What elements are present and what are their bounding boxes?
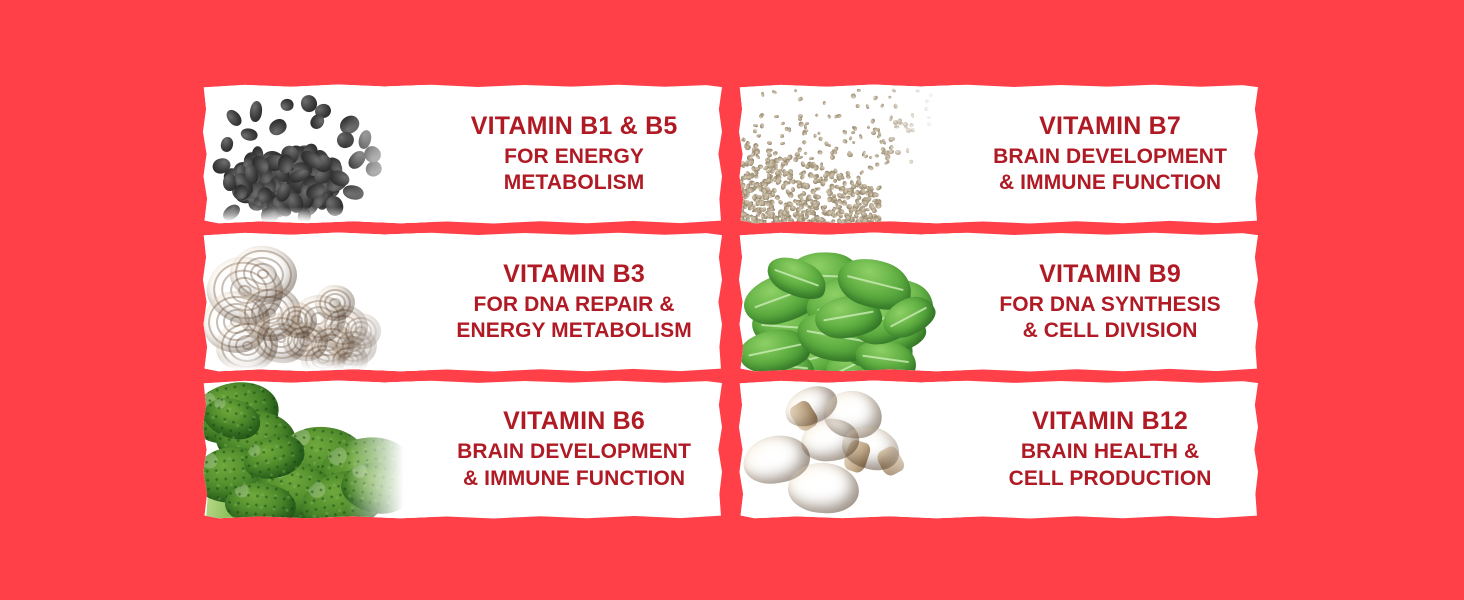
- vitamin-title: VITAMIN B6: [503, 407, 645, 435]
- vitamin-title: VITAMIN B9: [1039, 260, 1181, 288]
- vitamin-card-b7[interactable]: VITAMIN B7 BRAIN DEVELOPMENT & IMMUNE FU…: [739, 84, 1258, 224]
- chia-seeds-photo: [739, 84, 962, 224]
- vitamin-card-text: VITAMIN B9 FOR DNA SYNTHESIS & CELL DIVI…: [962, 232, 1258, 372]
- vitamin-title: VITAMIN B7: [1039, 112, 1181, 140]
- vitamin-card-text: VITAMIN B7 BRAIN DEVELOPMENT & IMMUNE FU…: [962, 84, 1258, 224]
- sunflower-seeds-photo: [203, 84, 426, 224]
- vitamin-subtitle-line-1: FOR ENERGY: [504, 144, 644, 170]
- vitamin-title: VITAMIN B12: [1032, 407, 1188, 435]
- shiitake-mushrooms-photo: [739, 380, 962, 519]
- spinach-leaves-photo: [739, 232, 962, 372]
- vitamin-card-text: VITAMIN B3 FOR DNA REPAIR & ENERGY METAB…: [426, 232, 722, 372]
- vitamin-card-b12[interactable]: VITAMIN B12 BRAIN HEALTH & CELL PRODUCTI…: [739, 380, 1258, 519]
- broccoli-photo: [203, 380, 426, 519]
- vitamin-subtitle-line-2: & IMMUNE FUNCTION: [463, 466, 685, 492]
- vitamin-card-text: VITAMIN B6 BRAIN DEVELOPMENT & IMMUNE FU…: [426, 380, 722, 519]
- vitamin-card-b6[interactable]: VITAMIN B6 BRAIN DEVELOPMENT & IMMUNE FU…: [203, 380, 722, 519]
- vitamin-subtitle-line-1: FOR DNA REPAIR &: [474, 292, 675, 318]
- vitamin-subtitle-line-2: ENERGY METABOLISM: [456, 318, 691, 344]
- vitamin-card-b9[interactable]: VITAMIN B9 FOR DNA SYNTHESIS & CELL DIVI…: [739, 232, 1258, 372]
- vitamin-subtitle-line-1: BRAIN HEALTH &: [1021, 439, 1199, 465]
- vitamin-subtitle-line-1: BRAIN DEVELOPMENT: [457, 439, 691, 465]
- maitake-mushrooms-photo: [203, 232, 426, 372]
- vitamin-card-text: VITAMIN B12 BRAIN HEALTH & CELL PRODUCTI…: [962, 380, 1258, 519]
- vitamin-subtitle-line-2: & IMMUNE FUNCTION: [999, 170, 1221, 196]
- vitamin-subtitle-line-2: & CELL DIVISION: [1023, 318, 1198, 344]
- vitamin-card-grid: VITAMIN B1 & B5 FOR ENERGY METABOLISM VI…: [203, 84, 1258, 520]
- vitamin-title: VITAMIN B3: [503, 260, 645, 288]
- vitamin-subtitle-line-2: METABOLISM: [504, 170, 645, 196]
- vitamin-subtitle-line-2: CELL PRODUCTION: [1009, 466, 1212, 492]
- infographic-board: VITAMIN B1 & B5 FOR ENERGY METABOLISM VI…: [0, 0, 1464, 600]
- vitamin-subtitle-line-1: BRAIN DEVELOPMENT: [993, 144, 1227, 170]
- vitamin-card-b1-b5[interactable]: VITAMIN B1 & B5 FOR ENERGY METABOLISM: [203, 84, 722, 224]
- vitamin-subtitle-line-1: FOR DNA SYNTHESIS: [999, 292, 1220, 318]
- vitamin-card-text: VITAMIN B1 & B5 FOR ENERGY METABOLISM: [426, 84, 722, 224]
- vitamin-card-b3[interactable]: VITAMIN B3 FOR DNA REPAIR & ENERGY METAB…: [203, 232, 722, 372]
- vitamin-title: VITAMIN B1 & B5: [471, 112, 678, 140]
